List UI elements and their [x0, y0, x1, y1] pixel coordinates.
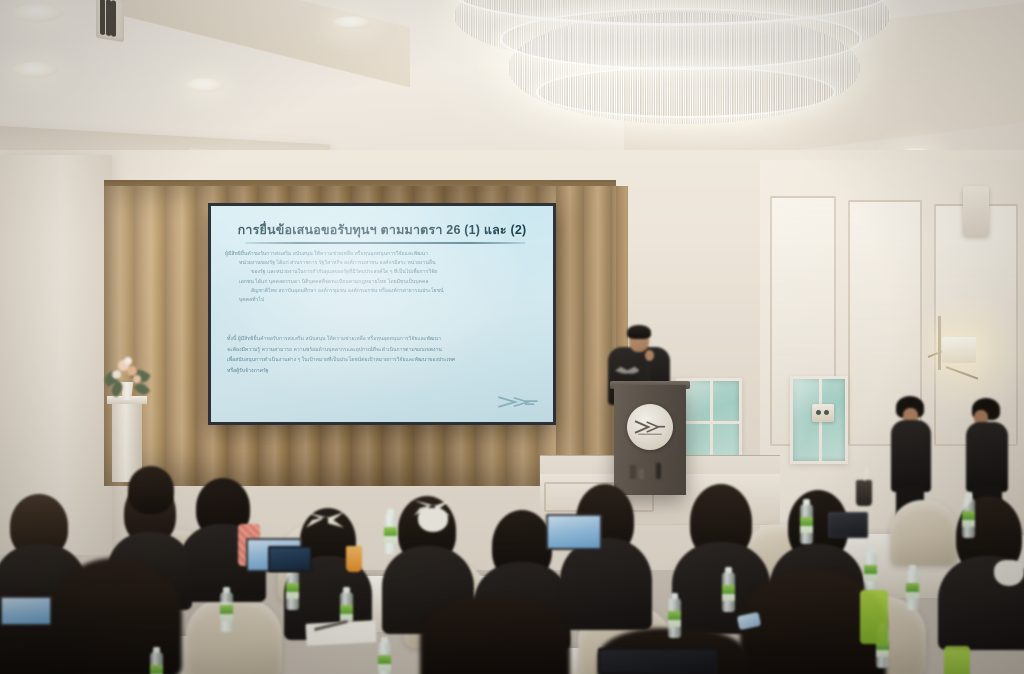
tablet — [828, 512, 868, 538]
water-bottle — [378, 642, 391, 674]
sconce-shade — [942, 337, 976, 363]
downlight-icon — [12, 4, 64, 22]
downlight-icon — [12, 62, 58, 78]
water-bottle — [864, 552, 877, 592]
slide-paragraph-line: หรือผู้รับจ้างภาครัฐ — [227, 366, 539, 377]
presenter-hand — [645, 350, 654, 361]
water-bottle — [722, 572, 735, 612]
seminar-room-photo: การยื่นข้อเสนอขอรับทุนฯ ตามมาตรา 26 (1) … — [0, 0, 1024, 674]
slide-bullet-list: ผู้มีสิทธิยื่นคำขอรับการส่งเสริม สนับสนุ… — [225, 250, 541, 305]
slide-paragraph-line: จะต้องมีความรู้ ความสามารถ ความพร้อมด้าน… — [227, 345, 539, 356]
downlight-icon — [332, 16, 372, 29]
slide-logo-icon — [497, 394, 539, 410]
laptop — [546, 514, 602, 550]
orange-drink-cup — [346, 546, 362, 572]
downlight-icon — [185, 78, 225, 92]
slide-bullet: ผู้มีสิทธิยื่นคำขอรับการส่งเสริม สนับสนุ… — [225, 250, 541, 259]
face-mask — [418, 508, 448, 532]
projection-screen: การยื่นข้อเสนอขอรับทุนฯ ตามมาตรา 26 (1) … — [208, 203, 556, 425]
drink-cup — [856, 480, 872, 506]
podium-emblem-icon — [627, 404, 673, 450]
slide-bullet: เอกชน ได้แก่ บุคคลธรรมดา นิติบุคคลที่จดท… — [225, 278, 541, 287]
wall-speaker-icon — [963, 186, 989, 236]
laptop — [598, 648, 718, 674]
neon-lanyard — [944, 646, 970, 674]
water-bottle — [286, 570, 299, 610]
air-vent — [96, 0, 124, 42]
slide-title: การยื่นข้อเสนอขอรับทุนฯ ตามมาตรา 26 (1) … — [211, 220, 553, 240]
water-bottle — [962, 498, 975, 538]
slide-title-underline — [245, 242, 525, 244]
slide-bullet: ของรัฐ และหน่วยงานในการกำกับดูแลของรัฐที… — [225, 268, 541, 277]
laptop — [0, 596, 52, 626]
left-pillar — [0, 155, 112, 555]
water-bottle — [384, 514, 397, 554]
water-bottle — [800, 504, 813, 544]
slide-paragraph-line: เพื่อสนับสนุนการดำเนินงานต่าง ๆ ในเป้าหม… — [227, 355, 539, 366]
window-control-panel — [812, 404, 834, 422]
presenter-hair — [627, 325, 651, 339]
slide-paragraph: ทั้งนี้ ผู้มีสิทธิยื่นคำขอรับการส่งเสริม… — [227, 334, 539, 376]
slide-paragraph-line: ทั้งนี้ ผู้มีสิทธิยื่นคำขอรับการส่งเสริม… — [227, 334, 539, 345]
slide-bullet: หน่วยงานของรัฐ ได้แก่ ส่วนราชการ รัฐวิสา… — [225, 259, 541, 268]
face-mask — [994, 560, 1024, 586]
podium-logo-glyph — [633, 417, 667, 437]
banquet-chair — [890, 500, 958, 566]
slide-bullet: สัญชาติไทย สถาบันอุดมศึกษา องค์กรชุมชน อ… — [225, 287, 541, 296]
slide-surface: การยื่นข้อเสนอขอรับทุนฯ ตามมาตรา 26 (1) … — [211, 206, 553, 422]
water-bottle — [150, 652, 163, 674]
sconce-post — [938, 316, 941, 370]
laptop — [268, 546, 312, 572]
neon-lanyard — [860, 590, 888, 644]
slide-bullet: บุคคลทั่วไป — [225, 296, 541, 305]
chandelier-glow — [420, 0, 940, 170]
water-bottle — [220, 592, 233, 632]
water-bottle — [906, 570, 919, 610]
banquet-chair — [186, 596, 282, 674]
water-bottle — [668, 598, 681, 638]
